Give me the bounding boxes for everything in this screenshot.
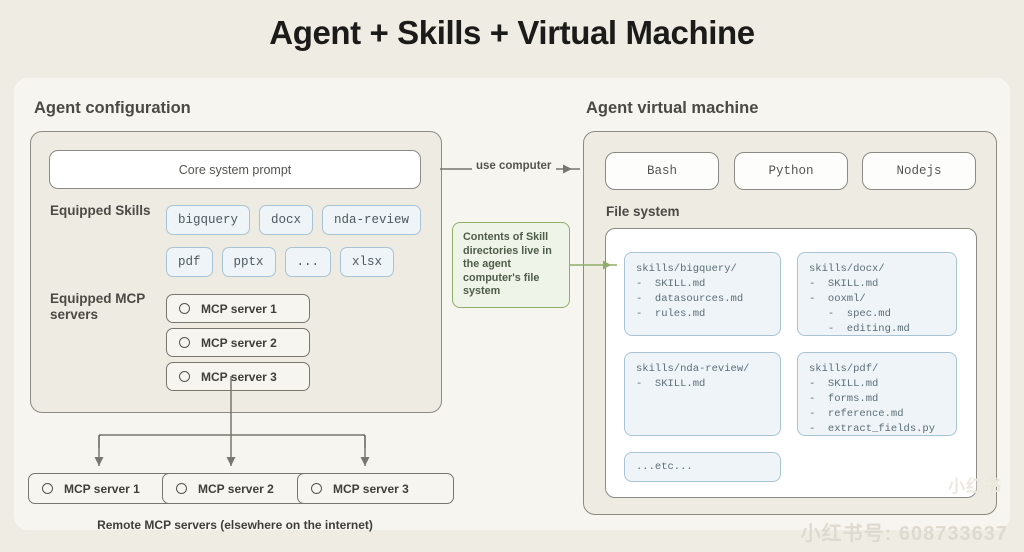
watermark: 小红书号: 608733637 — [801, 517, 1008, 546]
connector-lines — [0, 0, 1024, 552]
watermark-faint: 小红书 — [948, 472, 1002, 497]
